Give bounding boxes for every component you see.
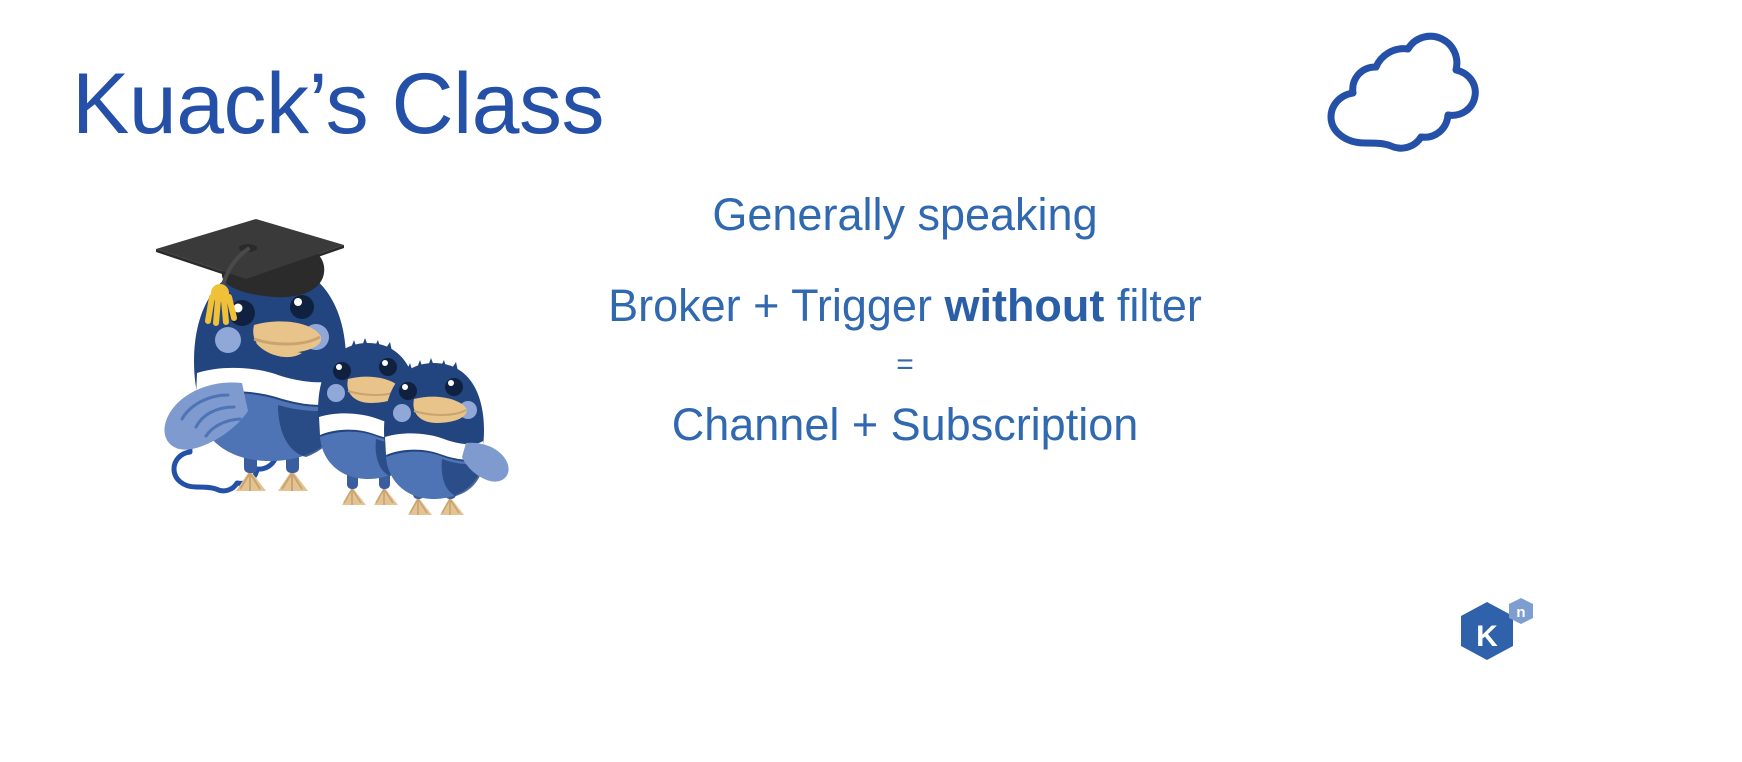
three-birds-illustration: [150, 215, 510, 515]
knative-logo-n-letter: n: [1516, 604, 1525, 621]
cloud-outline-icon: [1307, 25, 1487, 153]
slide-root: Kuack’s Class: [0, 0, 1742, 762]
page-title: Kuack’s Class: [72, 58, 604, 151]
knative-logo-primary-hex: K: [1461, 602, 1513, 660]
body-line-equals: =: [520, 350, 1290, 380]
body-text-block: Generally speaking Broker + Trigger with…: [520, 192, 1290, 447]
body-line-channel-subscription: Channel + Subscription: [520, 402, 1290, 447]
body-line-broker-trigger: Broker + Trigger without filter: [520, 283, 1290, 328]
knative-logo-k-letter: K: [1476, 620, 1498, 653]
body-line-broker-prefix: Broker + Trigger: [608, 280, 944, 331]
knative-logo: K n: [1451, 596, 1541, 670]
body-line-broker-emphasis: without: [944, 280, 1104, 331]
body-line-generally-speaking: Generally speaking: [520, 192, 1290, 237]
body-line-broker-suffix: filter: [1104, 280, 1202, 331]
chick-bird-right: [384, 358, 509, 515]
